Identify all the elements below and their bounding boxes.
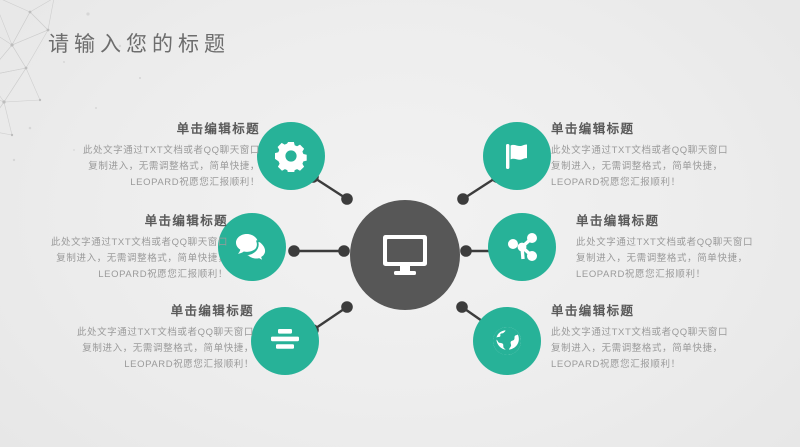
block-line: LEOPARD祝愿您汇报顺利！ <box>576 267 800 283</box>
block-line: 此处文字通过TXT文档或者QQ聊天窗口 <box>28 143 260 159</box>
node-gear[interactable] <box>257 122 325 190</box>
text-block-bottom-left: 单击编辑标题 此处文字通过TXT文档或者QQ聊天窗口 复制进入，无需调整格式，简… <box>22 300 254 373</box>
block-heading: 单击编辑标题 <box>551 118 783 137</box>
text-block-top-right: 单击编辑标题 此处文字通过TXT文档或者QQ聊天窗口 复制进入，无需调整格式，简… <box>551 118 783 191</box>
block-line: 复制进入，无需调整格式，简单快捷， <box>28 159 260 175</box>
text-block-middle-left: 单击编辑标题 此处文字通过TXT文档或者QQ聊天窗口 复制进入，无需调整格式，简… <box>0 210 228 283</box>
block-line: 复制进入，无需调整格式，简单快捷， <box>551 341 783 357</box>
center-hub[interactable] <box>350 200 460 310</box>
node-align-center[interactable] <box>251 307 319 375</box>
node-chat[interactable] <box>218 213 286 281</box>
block-line: 复制进入，无需调整格式，简单快捷， <box>576 251 800 267</box>
block-line: LEOPARD祝愿您汇报顺利！ <box>22 357 254 373</box>
text-block-middle-right: 单击编辑标题 此处文字通过TXT文档或者QQ聊天窗口 复制进入，无需调整格式，简… <box>576 210 800 283</box>
block-line: 此处文字通过TXT文档或者QQ聊天窗口 <box>551 325 783 341</box>
block-line: LEOPARD祝愿您汇报顺利！ <box>0 267 228 283</box>
slide-canvas: 请输入您的标题 <box>0 0 800 447</box>
share-icon <box>506 231 538 263</box>
node-share[interactable] <box>488 213 556 281</box>
block-line: 此处文字通过TXT文档或者QQ聊天窗口 <box>551 143 783 159</box>
block-heading: 单击编辑标题 <box>22 300 254 319</box>
text-block-top-left: 单击编辑标题 此处文字通过TXT文档或者QQ聊天窗口 复制进入，无需调整格式，简… <box>28 118 260 191</box>
text-block-bottom-right: 单击编辑标题 此处文字通过TXT文档或者QQ聊天窗口 复制进入，无需调整格式，简… <box>551 300 783 373</box>
block-heading: 单击编辑标题 <box>0 210 228 229</box>
block-line: 复制进入，无需调整格式，简单快捷， <box>22 341 254 357</box>
block-line: 复制进入，无需调整格式，简单快捷， <box>0 251 228 267</box>
block-line: 复制进入，无需调整格式，简单快捷， <box>551 159 783 175</box>
gear-icon <box>275 140 307 172</box>
block-line: 此处文字通过TXT文档或者QQ聊天窗口 <box>576 235 800 251</box>
node-flag[interactable] <box>483 122 551 190</box>
block-line: LEOPARD祝愿您汇报顺利！ <box>551 357 783 373</box>
align-center-icon <box>269 328 301 354</box>
block-heading: 单击编辑标题 <box>28 118 260 137</box>
chat-bubbles-icon <box>235 232 269 262</box>
block-line: 此处文字通过TXT文档或者QQ聊天窗口 <box>22 325 254 341</box>
flag-icon <box>501 140 533 172</box>
block-heading: 单击编辑标题 <box>551 300 783 319</box>
globe-icon <box>491 325 523 357</box>
block-line: LEOPARD祝愿您汇报顺利！ <box>551 175 783 191</box>
node-globe[interactable] <box>473 307 541 375</box>
monitor-icon <box>381 233 429 277</box>
page-title: 请输入您的标题 <box>48 28 230 58</box>
block-line: LEOPARD祝愿您汇报顺利！ <box>28 175 260 191</box>
block-line: 此处文字通过TXT文档或者QQ聊天窗口 <box>0 235 228 251</box>
block-heading: 单击编辑标题 <box>576 210 800 229</box>
